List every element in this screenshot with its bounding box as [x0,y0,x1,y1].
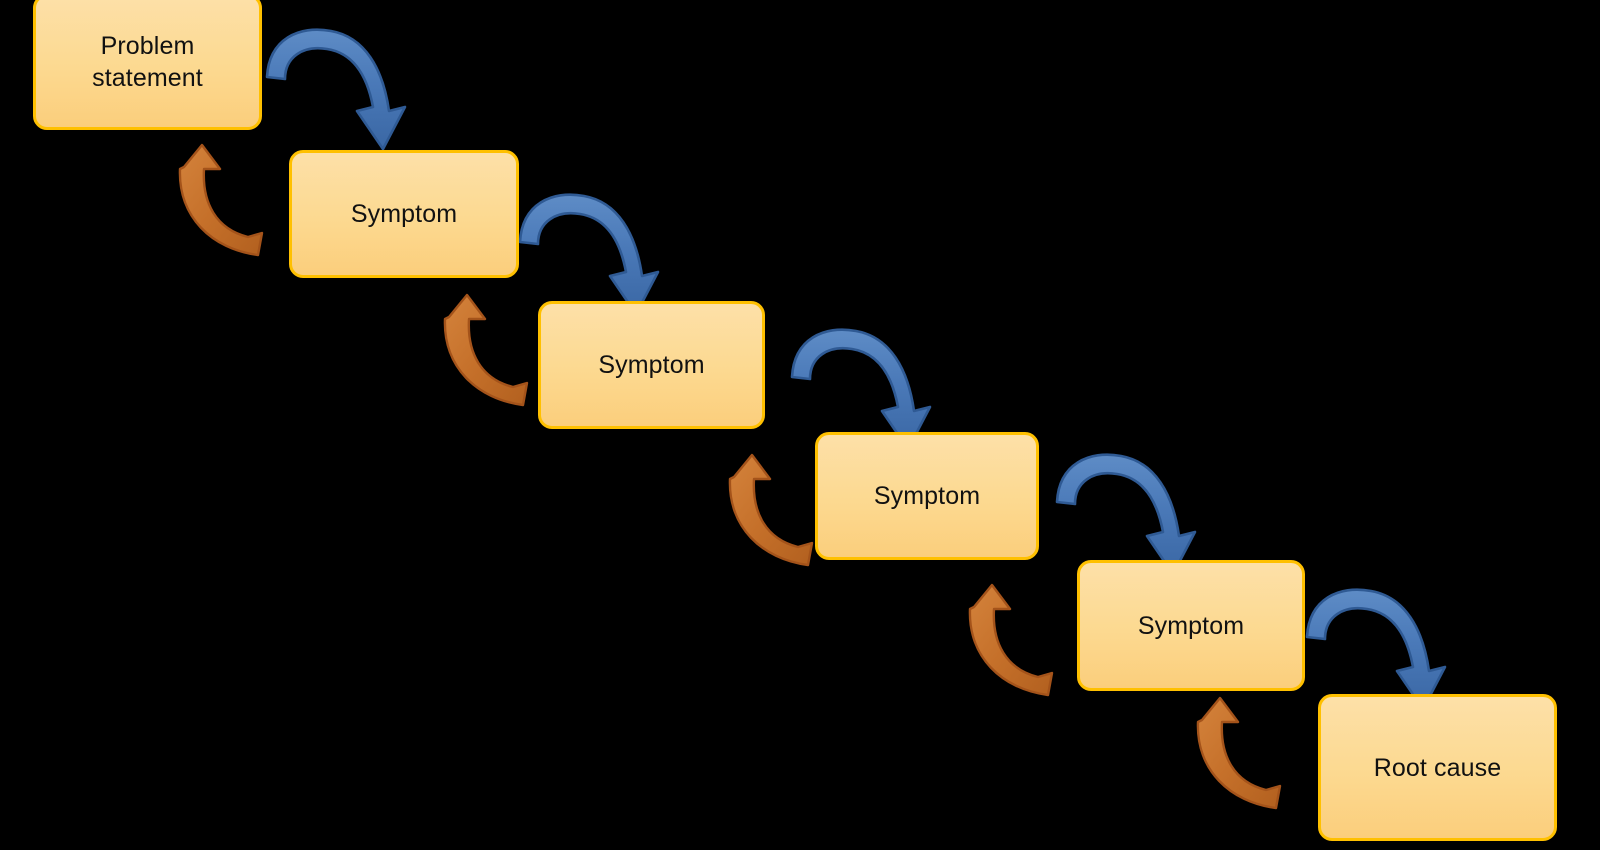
process-node-5[interactable]: Symptom [1077,560,1305,691]
process-node-2[interactable]: Symptom [289,150,519,278]
node-label: Symptom [1138,610,1244,642]
process-node-1[interactable]: Problemstatement [33,0,262,130]
backward-arrow-2 [445,295,527,405]
forward-arrow-1 [267,30,405,149]
forward-arrow-4 [1057,455,1195,574]
forward-arrow-2 [520,195,658,314]
node-label: Problemstatement [92,30,203,94]
backward-arrow-1 [180,145,262,255]
process-node-3[interactable]: Symptom [538,301,765,429]
node-label: Symptom [351,198,457,230]
node-label-line2: statement [92,62,203,94]
forward-arrow-5 [1307,590,1445,709]
node-label: Root cause [1374,752,1501,784]
diagram-canvas: ProblemstatementSymptomSymptomSymptomSym… [0,0,1600,850]
node-label-line1: Problem [92,30,203,62]
node-label: Symptom [598,349,704,381]
process-node-4[interactable]: Symptom [815,432,1039,560]
backward-arrow-4 [970,585,1052,695]
backward-arrow-5 [1198,698,1280,808]
process-node-6[interactable]: Root cause [1318,694,1557,841]
backward-arrow-3 [730,455,812,565]
node-label: Symptom [874,480,980,512]
